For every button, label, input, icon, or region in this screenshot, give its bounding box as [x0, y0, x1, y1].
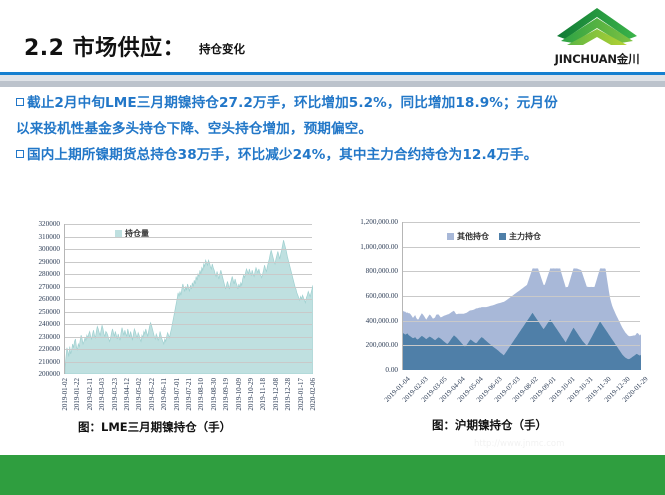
x-axis-tick-label: 2020-02-06 [309, 378, 317, 411]
caption-right: 图：沪期镍持仓（手） [432, 417, 547, 433]
y-axis-tick-label: 290000 [38, 258, 60, 266]
x-axis-tick-label: 2019-07-01 [173, 378, 181, 411]
y-axis-tick-label: 320000 [38, 220, 60, 228]
jinchuan-logo: JINCHUAN金川 [543, 6, 651, 68]
gridline [403, 222, 640, 223]
x-axis-tick-label: 2019-08-30 [210, 378, 218, 411]
header-rule-grey [0, 81, 665, 87]
chart-lme-positions: 持仓量 320000310000300000290000280000270000… [8, 216, 320, 436]
gridline [65, 237, 312, 238]
x-axis-tick-label: 2019-07-21 [185, 378, 193, 411]
y-axis-tick-label: 230000 [38, 333, 60, 341]
gridline [65, 262, 312, 263]
x-axis-tick-label: 2019-01-22 [73, 378, 81, 411]
x-axis-tick-label: 2019-11-18 [259, 378, 267, 410]
logo-text-cn: 金川 [617, 52, 640, 66]
gridline [403, 271, 640, 272]
slide-header: 2.2 市场供应： 持仓变化 [0, 0, 665, 72]
y-axis-tick-label: 200000 [38, 370, 60, 378]
bullet-text: 截止2月中旬LME三月期镍持仓27.2万手，环比增加5.2%，同比增加18.9%… [27, 90, 558, 116]
bullet-marker-icon [16, 98, 24, 106]
y-axis-tick-label: 240000 [38, 320, 60, 328]
x-axis-tick-label: 2019-09-19 [222, 378, 230, 411]
y-axis-tick-label: 300000 [38, 245, 60, 253]
slide-footer [0, 455, 665, 495]
x-axis-tick-label: 2019-12-08 [272, 378, 280, 411]
x-axis-tick-label: 2019-06-11 [160, 378, 168, 410]
gridline [403, 247, 640, 248]
bullet-marker-icon [16, 150, 24, 158]
y-axis-tick-label: 250000 [38, 308, 60, 316]
y-axis-tick-label: 1,000,000.00 [360, 243, 398, 251]
logo-wordmark: JINCHUAN金川 [543, 51, 651, 67]
y-axis-tick-label: 280000 [38, 270, 60, 278]
gridline [65, 274, 312, 275]
gridline [65, 287, 312, 288]
x-axis-tick-label: 2019-10-29 [247, 378, 255, 411]
y-axis-tick-label: 200,000.00 [366, 341, 398, 349]
y-axis-tick-label: 310000 [38, 233, 60, 241]
x-axis-tick-label: 2019-03-03 [98, 378, 106, 411]
gridline [65, 299, 312, 300]
x-axis-tick-label: 2019-05-22 [148, 378, 156, 411]
y-axis-tick-label: 260000 [38, 295, 60, 303]
y-axis-tick-label: 270000 [38, 283, 60, 291]
gridline [65, 249, 312, 250]
x-axis-tick-label: 2019-12-28 [284, 378, 292, 411]
x-axis-tick-label: 2020-01-17 [297, 378, 305, 411]
site-url[interactable]: http://www.jnmc.com [474, 439, 564, 449]
bullet-text: 以来投机性基金多头持仓下降、空头持仓增加，预期偏空。 [16, 116, 372, 142]
x-axis-tick-label: 2019-10-09 [235, 378, 243, 411]
caption-left: 图：LME三月期镍持仓（手） [78, 419, 231, 435]
bullet-item-2: 国内上期所镍期货总持仓38万手，环比减少24%，其中主力合约持仓为12.4万手。 [16, 142, 656, 168]
gridline [65, 337, 312, 338]
gridline [65, 349, 312, 350]
y-axis-tick-label: 220000 [38, 345, 60, 353]
bullet-item-1: 截止2月中旬LME三月期镍持仓27.2万手，环比增加5.2%，同比增加18.9%… [16, 90, 656, 116]
bullet-list: 截止2月中旬LME三月期镍持仓27.2万手，环比增加5.2%，同比增加18.9%… [16, 90, 656, 168]
gridline [403, 345, 640, 346]
y-axis-tick-label: 0.00 [385, 366, 398, 374]
logo-text-en: JINCHUAN [555, 52, 617, 66]
mountain-logo-icon [555, 6, 639, 46]
gridline [65, 324, 312, 325]
area-series-chicang [65, 240, 313, 374]
y-axis-tick-label: 1,200,000.00 [360, 218, 398, 226]
y-axis-tick-label: 210000 [38, 358, 60, 366]
y-axis-tick-label: 600,000.00 [366, 292, 398, 300]
y-axis-tick-label: 400,000.00 [366, 317, 398, 325]
page-title: 2.2 市场供应： [24, 30, 185, 62]
slide-root: 2.2 市场供应： 持仓变化 [0, 0, 665, 495]
x-axis-tick-label: 2019-01-02 [61, 378, 69, 411]
x-axis-tick-label: 2019-04-12 [123, 378, 131, 411]
page-subtitle: 持仓变化 [199, 41, 245, 57]
y-axis-tick-label: 800,000.00 [366, 267, 398, 275]
gridline [65, 312, 312, 313]
x-axis-tick-label: 2019-02-11 [86, 378, 94, 410]
gridline [403, 296, 640, 297]
x-axis-tick-label: 2019-05-02 [135, 378, 143, 411]
gridline [65, 224, 312, 225]
bullet-item-1-continuation: 以来投机性基金多头持仓下降、空头持仓增加，预期偏空。 [16, 116, 656, 142]
bullet-text: 国内上期所镍期货总持仓38万手，环比减少24%，其中主力合约持仓为12.4万手。 [27, 142, 537, 168]
gridline [65, 362, 312, 363]
plot-area-lme: 持仓量 [64, 224, 312, 374]
chart-shfe-positions: 其他持仓 主力持仓 1,200,000.001,000,000.00800,00… [334, 212, 662, 432]
x-axis-tick-label: 2019-08-10 [197, 378, 205, 411]
x-axis-tick-label: 2019-03-23 [111, 378, 119, 411]
plot-area-shfe: 其他持仓 主力持仓 [402, 222, 640, 370]
gridline [403, 321, 640, 322]
